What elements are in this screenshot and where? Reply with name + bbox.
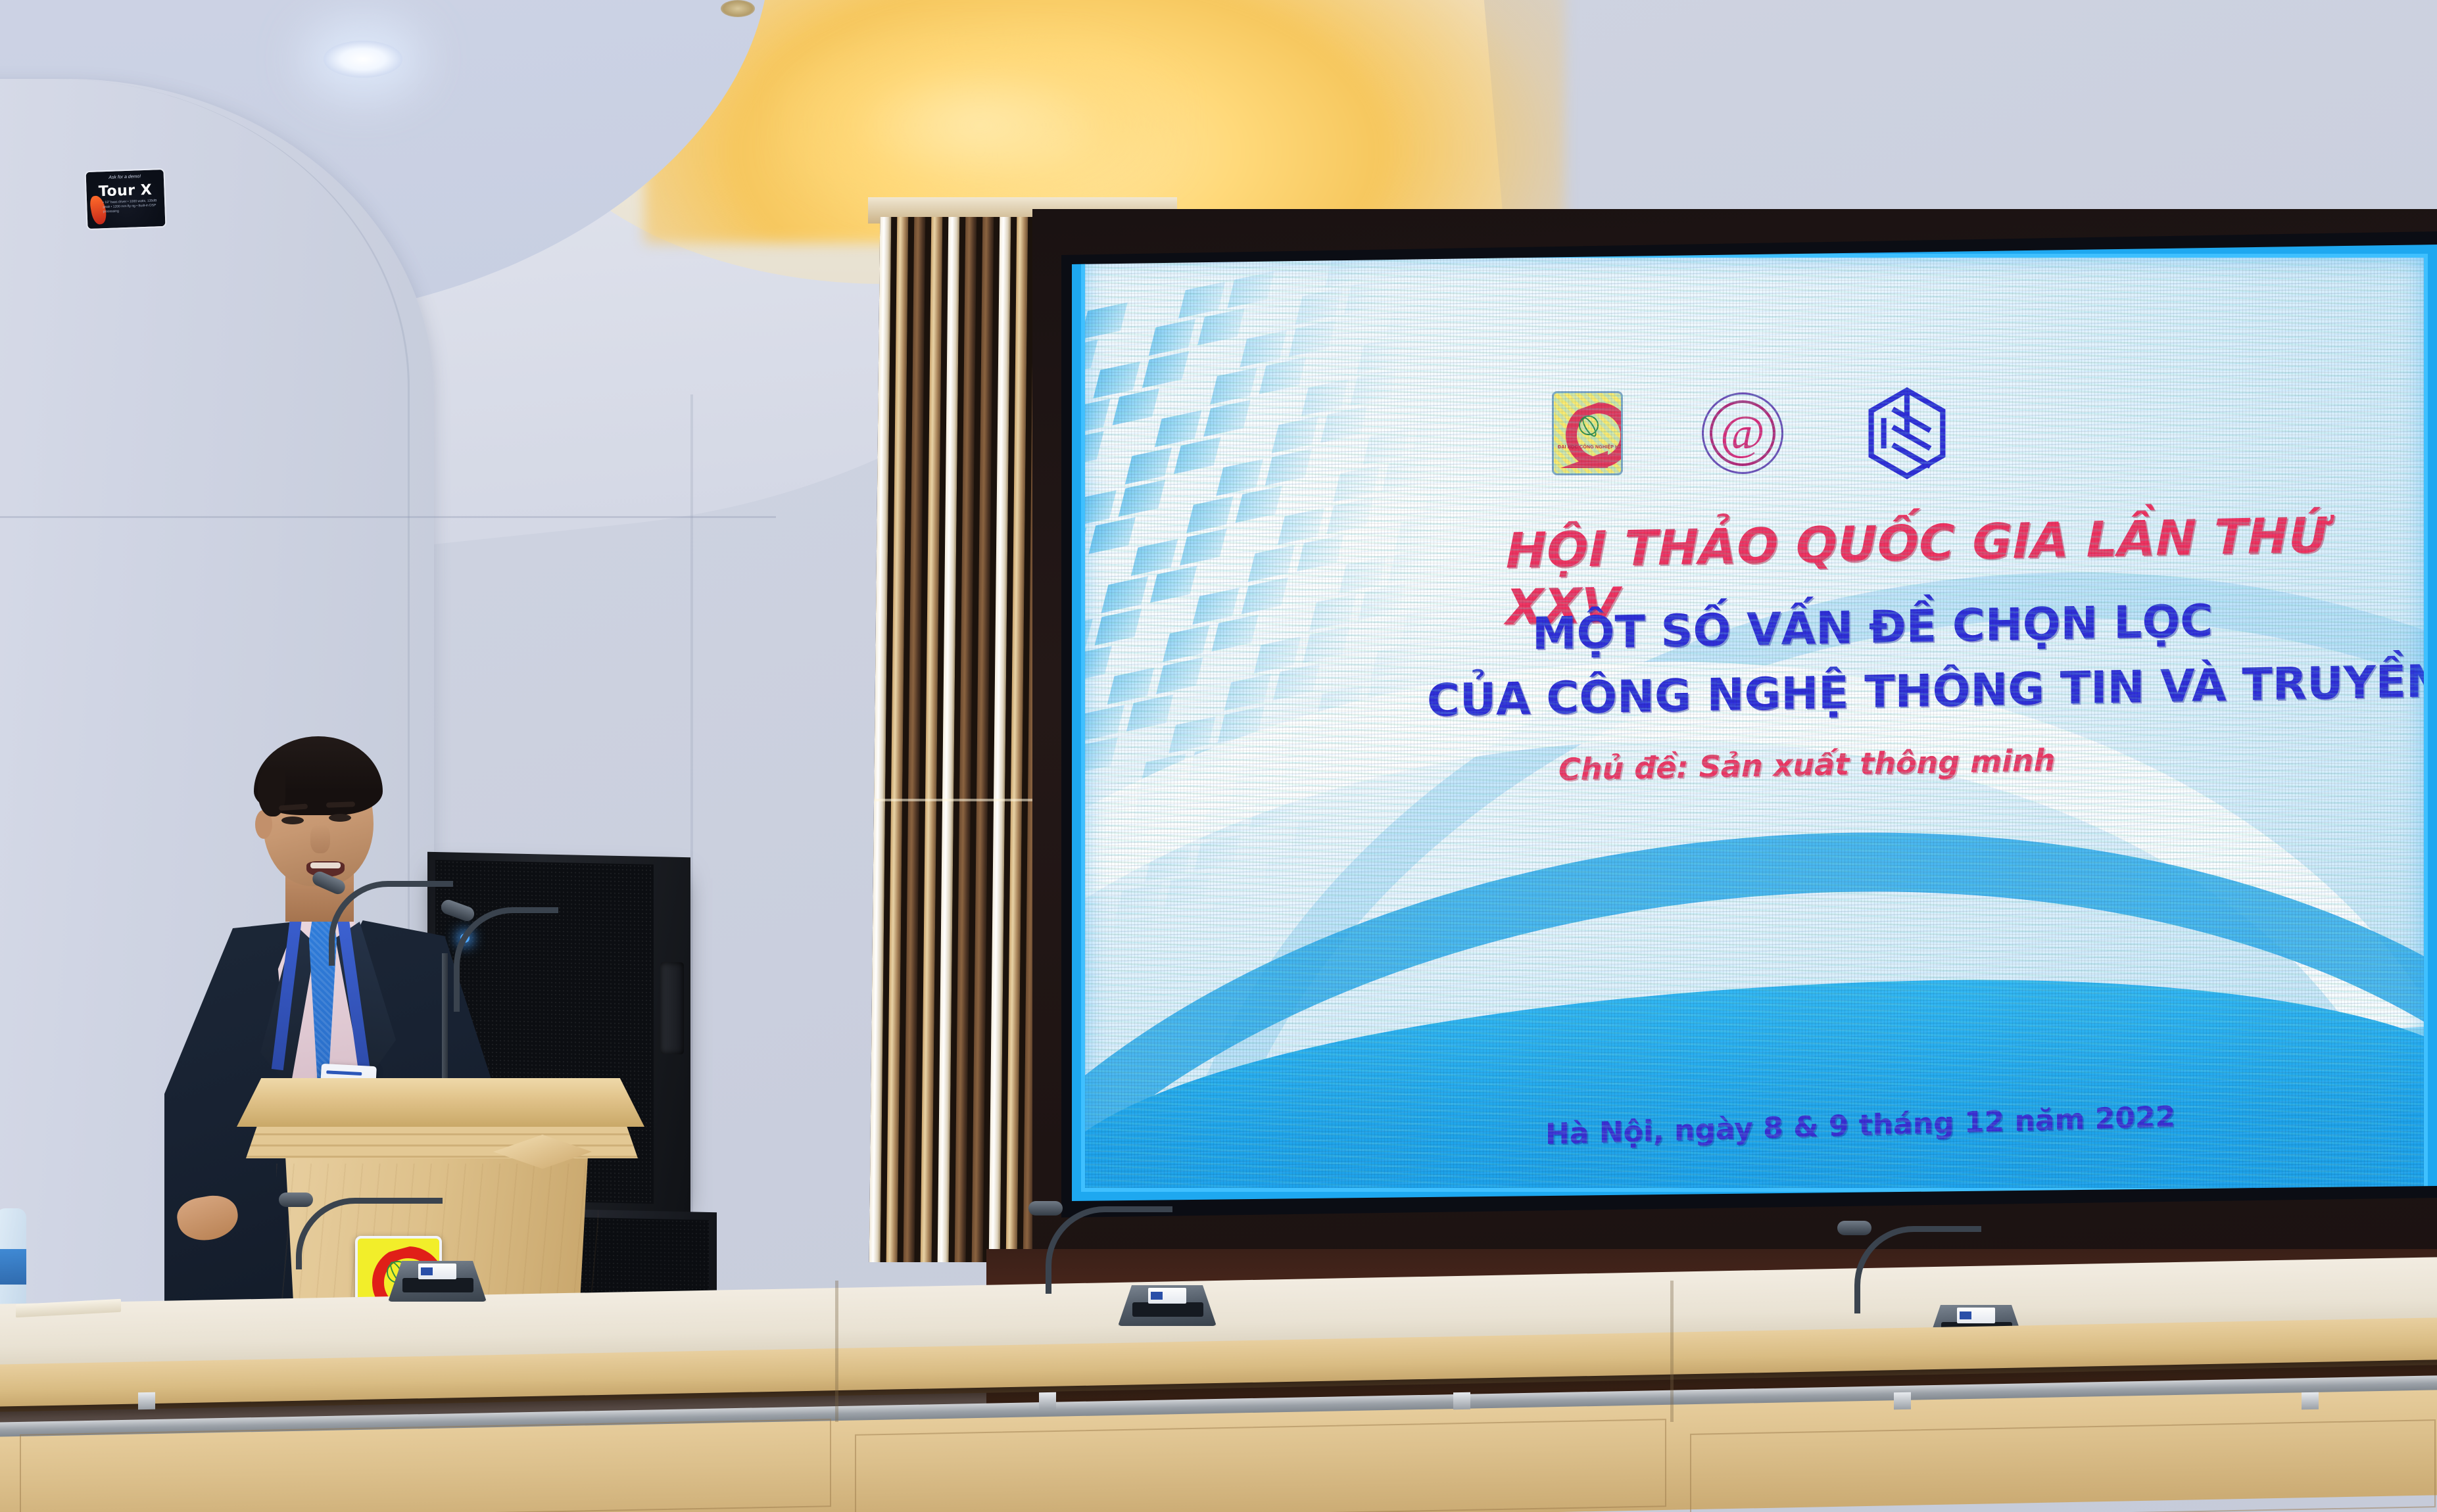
mic-speaker-slot (402, 1278, 473, 1292)
mic-capsule (1028, 1201, 1063, 1216)
conference-hall-photo: ĐẠI HỌC CÔNG NGHIỆP HÀ NỘI @ (0, 0, 2437, 1512)
sticker-brand: Tour X (86, 181, 164, 201)
table-panel-1 (20, 1419, 831, 1512)
eye-left (281, 816, 304, 824)
sticker-tagline: Ask for a demo! (86, 174, 164, 181)
mic-label-tag (1957, 1308, 1995, 1323)
table-panel-2 (855, 1419, 1666, 1512)
table-microphone-2[interactable] (1118, 1285, 1217, 1326)
mic-capsule (279, 1193, 313, 1207)
bottle-label (0, 1249, 26, 1285)
hair (254, 736, 383, 815)
badge-line-1 (326, 1070, 362, 1075)
table-microphone-1[interactable] (388, 1261, 487, 1302)
mic-base (1118, 1285, 1217, 1326)
mic-label-tag (418, 1264, 456, 1279)
mic-base (388, 1261, 487, 1302)
table-clip-3 (1453, 1392, 1470, 1409)
sticker-bullets: • 18" bass driver • 1000 watts, 135dB pe… (103, 199, 165, 214)
mic-capsule (1837, 1221, 1871, 1235)
podium-top-surface (237, 1078, 644, 1127)
led-presentation-screen[interactable]: ĐẠI HỌC CÔNG NGHIỆP HÀ NỘI @ (1072, 245, 2437, 1201)
eyebrow-right (326, 801, 355, 808)
pa-speaker-brand-sticker: Ask for a demo! Tour X • 18" bass driver… (84, 168, 166, 230)
table-clip-4 (1894, 1392, 1911, 1409)
table-clip-1 (138, 1392, 155, 1409)
ceiling-light-ring (721, 0, 755, 17)
wall-seam (0, 516, 776, 518)
table-clip-5 (2302, 1392, 2319, 1409)
pa-speaker-handle (660, 962, 684, 1054)
table-joint-2 (1670, 1281, 1674, 1422)
mic-label-tag (1148, 1288, 1186, 1304)
warm-cove-light-glow (776, 26, 1184, 224)
table-joint-1 (835, 1281, 838, 1422)
table-clip-2 (1039, 1392, 1056, 1409)
eye-right (329, 814, 351, 822)
mic-speaker-slot (1132, 1302, 1203, 1317)
nose (310, 824, 330, 853)
table-panel-3 (1690, 1419, 2436, 1512)
slide-border (1072, 245, 2437, 1201)
recessed-downlight (324, 41, 402, 78)
